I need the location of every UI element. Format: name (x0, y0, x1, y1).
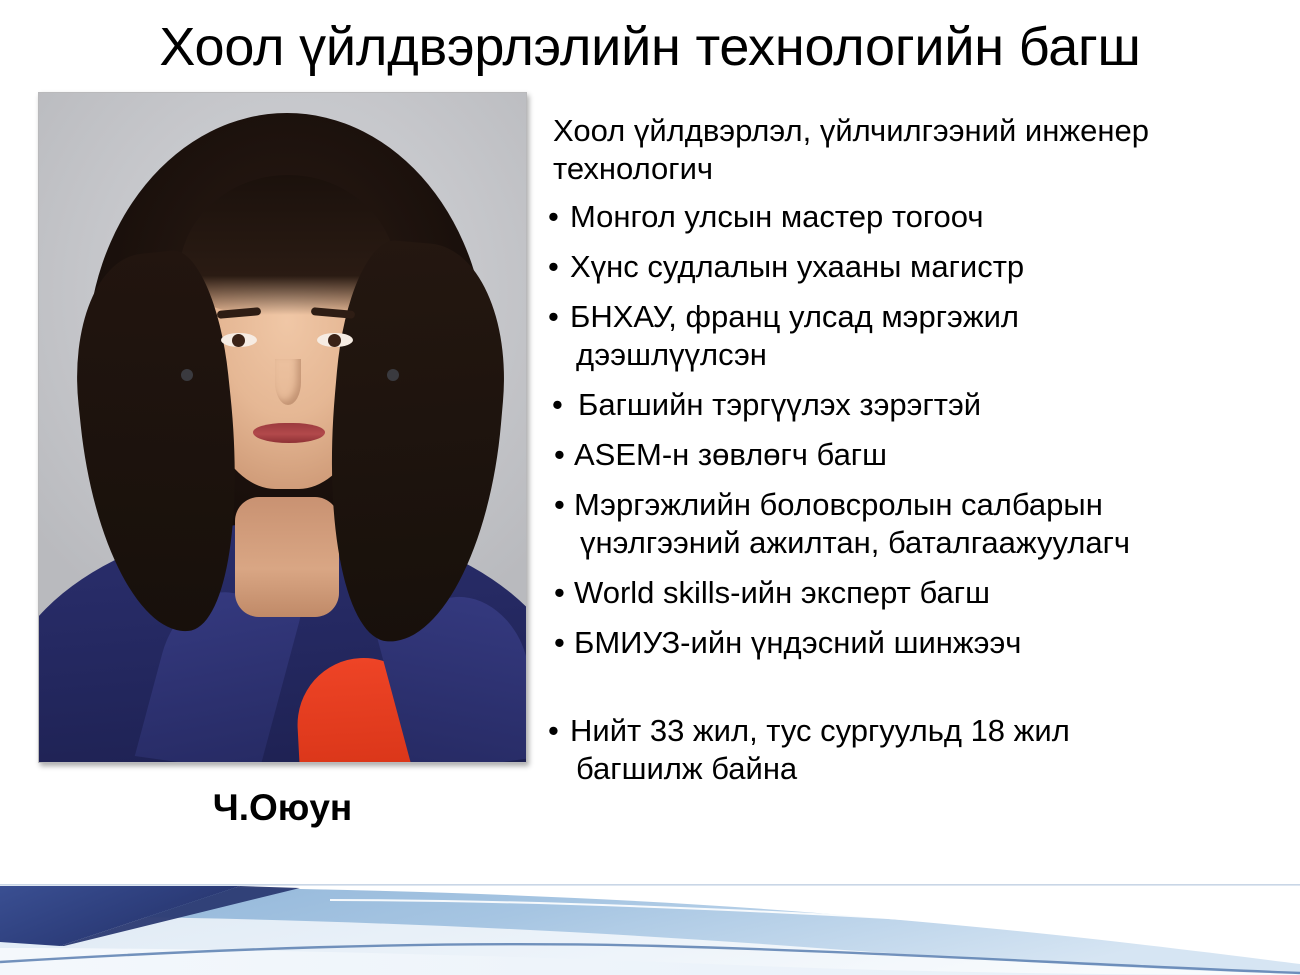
photo-name-caption: Ч.Оюун (38, 786, 527, 830)
eye-right (317, 333, 353, 347)
list-item-label: World skills-ийн эксперт багш (574, 575, 990, 610)
list-item-label: Багшийн тэргүүлэх зэрэгтэй (578, 387, 981, 422)
lead-paragraph: Хоол үйлдвэрлэл, үйлчилгээний инженер те… (553, 112, 1260, 188)
nose-shape (275, 359, 301, 405)
list-item: World skills-ийн эксперт багш (540, 574, 1260, 612)
list-item-label: Хүнс судлалын ухааны магистр (570, 249, 1024, 284)
list-item: БМИУЗ-ийн үндэсний шинжээч (540, 624, 1260, 662)
page-title: Хоол үйлдвэрлэлийн технологийн багш (60, 16, 1240, 78)
list-item-continuation: үнэлгээний ажилтан, баталгаажуулагч (574, 524, 1260, 562)
list-item: Хүнс судлалын ухааны магистр (540, 248, 1260, 286)
footer-top-rule (0, 884, 1300, 886)
content-column: Хоол үйлдвэрлэл, үйлчилгээний инженер те… (540, 112, 1260, 800)
earring-left (181, 369, 193, 381)
eye-left (221, 333, 257, 347)
list-item-label: Мэргэжлийн боловсролын салбарын (574, 487, 1103, 522)
footer-decoration (0, 870, 1300, 975)
list-item: БНХАУ, франц улсад мэргэжил дээшлүүлсэн (540, 298, 1260, 374)
list-item-label: Монгол улсын мастер тогооч (570, 199, 984, 234)
portrait-photo (38, 92, 527, 763)
list-item-continuation: багшилж байна (570, 750, 1260, 788)
list-item-label: БНХАУ, франц улсад мэргэжил (570, 299, 1019, 334)
list-item-label: Нийт 33 жил, тус сургуульд 18 жил (570, 713, 1070, 748)
list-item-label: БМИУЗ-ийн үндэсний шинжээч (574, 625, 1021, 660)
earring-right (387, 369, 399, 381)
list-item: Монгол улсын мастер тогооч (540, 198, 1260, 236)
list-item-label: ASEM-н зөвлөгч багш (574, 437, 887, 472)
list-item-continuation: дээшлүүлсэн (570, 336, 1260, 374)
list-item: Багшийн тэргүүлэх зэрэгтэй (540, 386, 1260, 424)
list-item: Нийт 33 жил, тус сургуульд 18 жил багшил… (540, 712, 1260, 788)
credentials-list: Монгол улсын мастер тогооч Хүнс судлалын… (540, 198, 1260, 788)
lead-line-1: Хоол үйлдвэрлэл, үйлчилгээний инженер (553, 113, 1149, 148)
lead-line-2: технологич (553, 151, 713, 186)
list-item: Мэргэжлийн боловсролын салбарын үнэлгээн… (540, 486, 1260, 562)
portrait-image (39, 93, 526, 762)
footer-swoosh-graphic (0, 870, 1300, 975)
slide-root: Хоол үйлдвэрлэлийн технологийн багш Ч.Ою… (0, 0, 1300, 975)
neck-shape (235, 497, 339, 617)
list-item: ASEM-н зөвлөгч багш (540, 436, 1260, 474)
